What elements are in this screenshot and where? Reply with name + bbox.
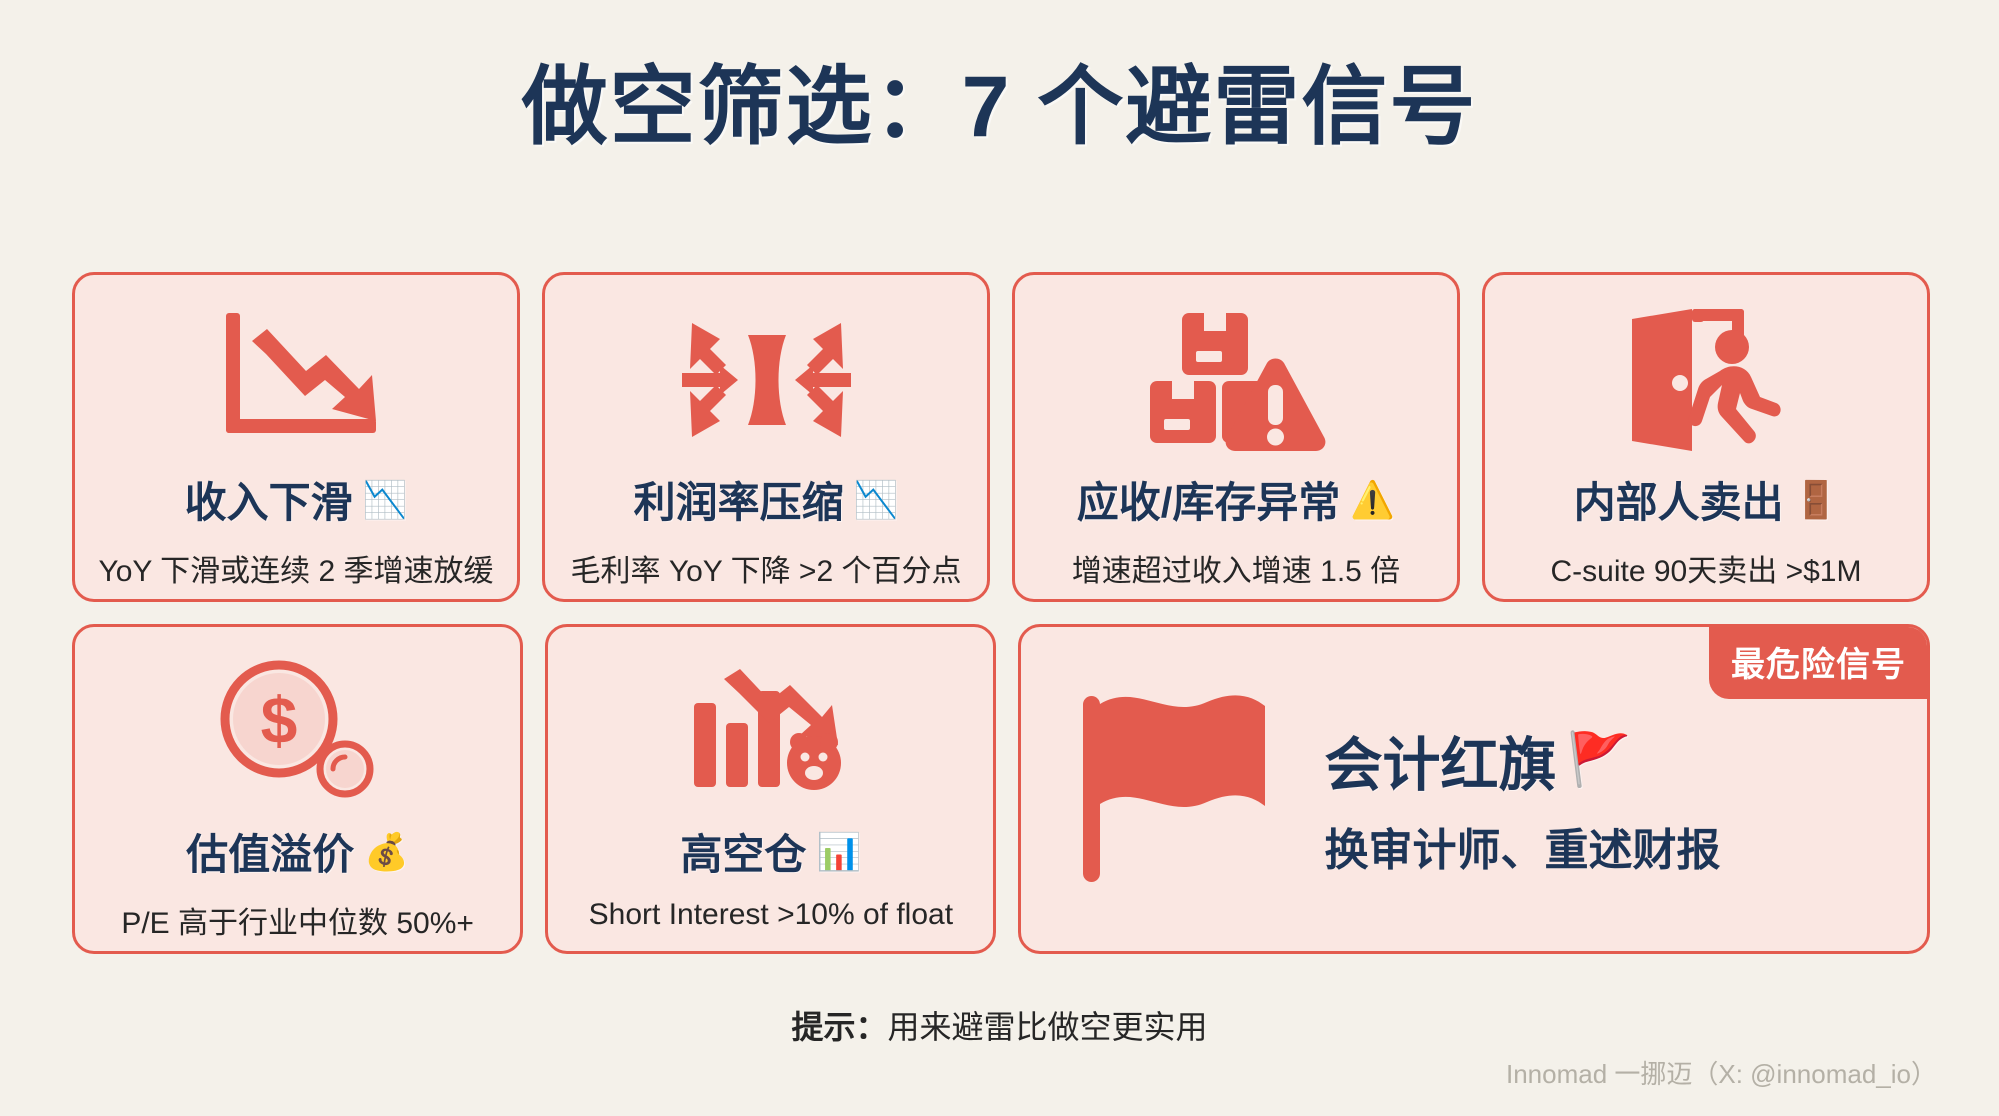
card-title: 收入下滑 📉 (185, 469, 408, 530)
boxes-warning-icon (1144, 305, 1329, 455)
signal-card-margin-compression[interactable]: 利润率压缩 📉 毛利率 YoY 下降 >2 个百分点 (542, 272, 990, 602)
card-title-text: 高空仓 (680, 821, 806, 882)
compression-arrows-icon (674, 305, 859, 455)
feature-card-text: 会计红旗 🚩 换审计师、重述财报 (1324, 700, 1720, 878)
card-title: 内部人卖出 🚪 (1574, 469, 1839, 530)
footer-tip-text: 用来避雷比做空更实用 (888, 1009, 1208, 1045)
card-title: 应收/库存异常 ⚠️ (1077, 469, 1396, 530)
card-subtitle: 毛利率 YoY 下降 >2 个百分点 (571, 546, 962, 590)
card-subtitle: C-suite 90天卖出 >$1M (1551, 546, 1862, 590)
card-title-text: 利润率压缩 (634, 469, 844, 530)
card-title: 估值溢价 💰 (186, 821, 409, 882)
signal-card-accounting-red-flag[interactable]: 最危险信号 会计红旗 🚩 换审计师、重述财报 (1018, 624, 1930, 954)
signal-grid: 收入下滑 📉 YoY 下滑或连续 2 季增速放缓 (72, 272, 1930, 976)
chart-decreasing-emoji: 📉 (854, 482, 899, 518)
signal-card-valuation-premium[interactable]: $ 估值溢价 💰 P/E 高于行业中位数 50%+ (72, 624, 523, 954)
footer-tip: 提示：用来避雷比做空更实用 (0, 1002, 1999, 1048)
exit-door-person-icon (1614, 305, 1799, 455)
card-subtitle: YoY 下滑或连续 2 季增速放缓 (98, 546, 493, 590)
warning-emoji: ⚠️ (1350, 482, 1395, 518)
feature-card-title-text: 会计红旗 (1324, 718, 1556, 802)
money-bag-emoji: 💰 (364, 834, 409, 870)
signal-card-receivables-inventory[interactable]: 应收/库存异常 ⚠️ 增速超过收入增速 1.5 倍 (1012, 272, 1460, 602)
card-subtitle: Short Interest >10% of float (589, 898, 953, 932)
card-title-text: 估值溢价 (186, 821, 354, 882)
svg-text:$: $ (261, 683, 298, 757)
feature-card-subtitle: 换审计师、重述财报 (1324, 814, 1720, 878)
card-title-text: 应收/库存异常 (1077, 469, 1341, 530)
card-title: 高空仓 📊 (680, 821, 861, 882)
feature-card-title: 会计红旗 🚩 (1324, 718, 1631, 802)
grid-row-1: 收入下滑 📉 YoY 下滑或连续 2 季增速放缓 (72, 272, 1930, 602)
grid-row-2: $ 估值溢价 💰 P/E 高于行业中位数 50%+ (72, 624, 1930, 954)
card-title: 利润率压缩 📉 (634, 469, 899, 530)
card-title-text: 内部人卖出 (1574, 469, 1784, 530)
bear-bars-icon (678, 657, 863, 807)
bar-chart-emoji: 📊 (816, 834, 861, 870)
red-flag-emoji: 🚩 (1566, 734, 1631, 786)
signal-card-revenue-decline[interactable]: 收入下滑 📉 YoY 下滑或连续 2 季增速放缓 (72, 272, 520, 602)
red-flag-icon (1067, 684, 1282, 894)
attribution: Innomad 一挪迈（X: @innomad_io） (1506, 1054, 1937, 1091)
footer-tip-label: 提示： (791, 1009, 887, 1045)
door-emoji: 🚪 (1794, 482, 1839, 518)
card-subtitle: 增速超过收入增速 1.5 倍 (1072, 546, 1400, 590)
chart-decreasing-emoji: 📉 (363, 482, 408, 518)
page-title: 做空筛选：7 个避雷信号 (0, 0, 1999, 157)
declining-chart-icon (204, 305, 389, 455)
signal-card-short-interest[interactable]: 高空仓 📊 Short Interest >10% of float (545, 624, 996, 954)
card-title-text: 收入下滑 (185, 469, 353, 530)
signal-card-insider-selling[interactable]: 内部人卖出 🚪 C-suite 90天卖出 >$1M (1482, 272, 1930, 602)
infographic-page: 做空筛选：7 个避雷信号 收入下滑 📉 (0, 0, 1999, 1116)
status-badge: 最危险信号 (1709, 626, 1928, 699)
money-bubble-icon: $ (205, 657, 390, 807)
card-subtitle: P/E 高于行业中位数 50%+ (121, 898, 474, 942)
